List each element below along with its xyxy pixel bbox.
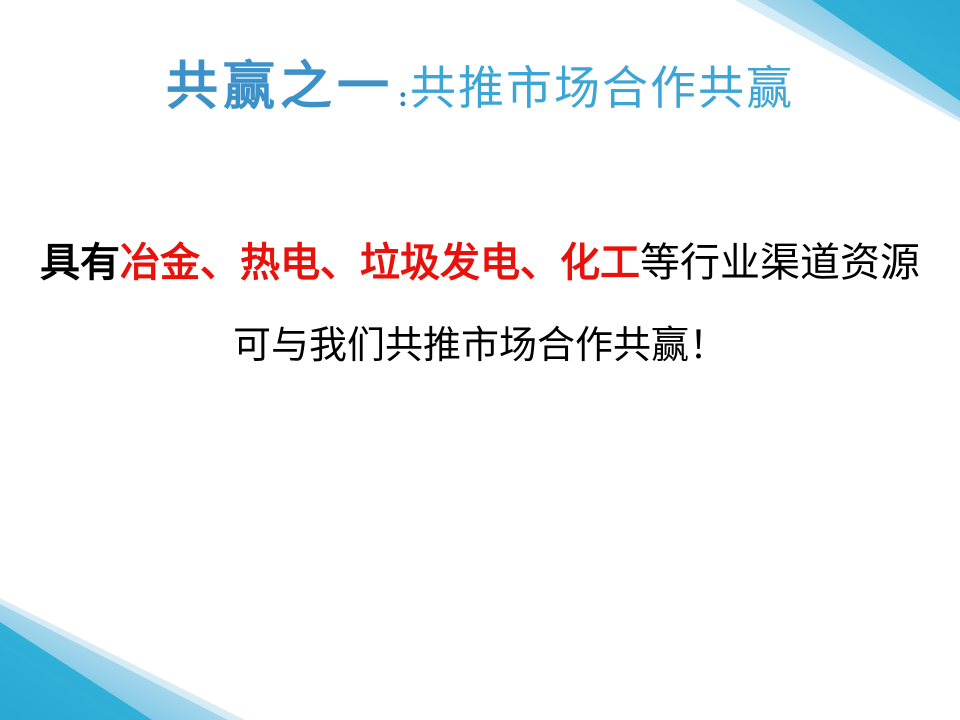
body-line-1: 具有冶金、热电、垃圾发电、化工等行业渠道资源 (0, 243, 960, 283)
body-line-2-text: 可与我们共推市场合作共赢！ (233, 325, 727, 367)
body-line-1-prefix: 具有 (40, 241, 120, 285)
body-line-2: 可与我们共推市场合作共赢！ (0, 327, 960, 365)
slide-canvas: 共赢之一:共推市场合作共赢 具有冶金、热电、垃圾发电、化工等行业渠道资源 可与我… (0, 0, 960, 720)
bottom-left-pale-band (0, 598, 245, 720)
title-separator: : (394, 80, 410, 113)
bottom-left-solid-triangle (0, 622, 152, 720)
title-sub-text: 共推市场合作共赢 (410, 63, 794, 114)
body-line-1-highlight: 冶金、热电、垃圾发电、化工 (120, 241, 640, 285)
title-main-text: 共赢之一 (166, 59, 394, 116)
slide-body: 具有冶金、热电、垃圾发电、化工等行业渠道资源 可与我们共推市场合作共赢！ (0, 243, 960, 365)
bottom-left-light-band (0, 604, 228, 720)
slide-title: 共赢之一:共推市场合作共赢 (0, 62, 960, 114)
bottom-left-sliver (0, 622, 152, 720)
body-line-1-suffix: 等行业渠道资源 (640, 241, 920, 285)
